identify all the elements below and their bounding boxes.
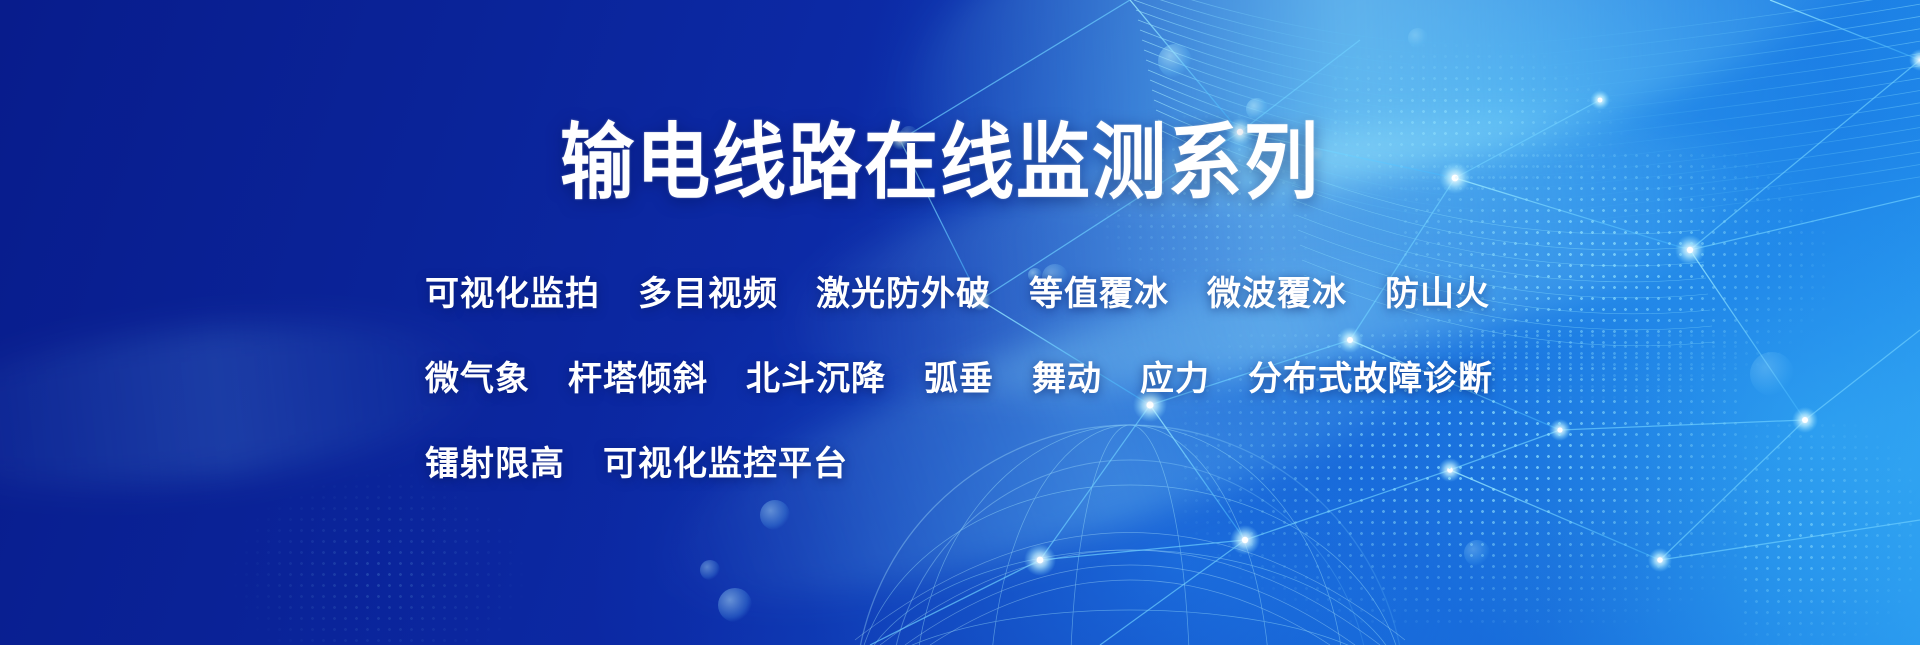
feature-tag[interactable]: 北斗沉降: [746, 351, 886, 400]
feature-tag[interactable]: 多目视频: [638, 266, 778, 315]
feature-tag[interactable]: 分布式故障诊断: [1248, 351, 1493, 400]
feature-tag[interactable]: 舞动: [1032, 351, 1102, 400]
feature-tag-row: 镭射限高 可视化监控平台: [425, 418, 1605, 503]
feature-tag[interactable]: 可视化监控平台: [603, 436, 848, 485]
feature-tag[interactable]: 微波覆冰: [1207, 266, 1347, 315]
feature-tag-row: 微气象 杆塔倾斜 北斗沉降 弧垂 舞动 应力 分布式故障诊断: [425, 333, 1605, 418]
feature-tag[interactable]: 杆塔倾斜: [568, 351, 708, 400]
feature-tag[interactable]: 弧垂: [924, 351, 994, 400]
feature-tag[interactable]: 微气象: [425, 351, 530, 400]
feature-tag[interactable]: 镭射限高: [425, 436, 565, 485]
banner-title: 输电线路在线监测系列: [560, 96, 1320, 216]
feature-tag[interactable]: 应力: [1140, 351, 1210, 400]
feature-tag-list: 可视化监拍 多目视频 激光防外破 等值覆冰 微波覆冰 防山火 微气象 杆塔倾斜 …: [425, 248, 1605, 503]
feature-tag[interactable]: 防山火: [1385, 266, 1490, 315]
banner-content: 输电线路在线监测系列 可视化监拍 多目视频 激光防外破 等值覆冰 微波覆冰 防山…: [0, 0, 1920, 645]
feature-tag-row: 可视化监拍 多目视频 激光防外破 等值覆冰 微波覆冰 防山火: [425, 248, 1605, 333]
feature-tag[interactable]: 激光防外破: [816, 266, 991, 315]
hero-banner: 输电线路在线监测系列 可视化监拍 多目视频 激光防外破 等值覆冰 微波覆冰 防山…: [0, 0, 1920, 645]
feature-tag[interactable]: 等值覆冰: [1029, 266, 1169, 315]
feature-tag[interactable]: 可视化监拍: [425, 266, 600, 315]
